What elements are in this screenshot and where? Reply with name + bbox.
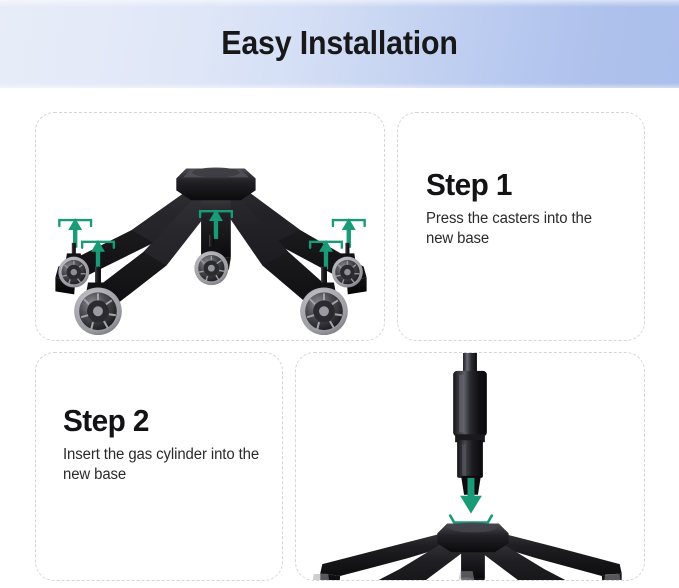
step-2-text-block: Step 2 Insert the gas cylinder into the …	[63, 405, 266, 484]
step-2-heading: Step 2	[63, 405, 258, 438]
card-step-2: Step 2 Insert the gas cylinder into the …	[35, 352, 283, 581]
step-2-body: Insert the gas cylinder into the new bas…	[63, 445, 260, 484]
header-top-sheen	[0, 0, 679, 7]
card-step-1: Step 1 Press the casters into the new ba…	[397, 112, 645, 341]
header-banner: Easy Installation	[0, 0, 679, 88]
base2-hub	[437, 523, 508, 553]
header-bottom-highlight	[0, 83, 679, 88]
base-hub	[176, 168, 255, 201]
page-root: Easy Installation	[0, 0, 679, 588]
step-1-heading: Step 1	[426, 169, 620, 202]
insert-arrow-down	[450, 478, 492, 523]
caster-wheel-1	[58, 243, 89, 288]
page-title: Easy Installation	[221, 24, 457, 65]
cylinder-illustration	[296, 353, 644, 580]
step-1-text-block: Step 1 Press the casters into the new ba…	[426, 169, 628, 248]
step-1-body: Press the casters into the new base	[426, 209, 622, 248]
gas-cylinder	[453, 353, 487, 495]
casters-illustration	[36, 113, 384, 340]
caster-wheel-5	[332, 243, 363, 288]
card-casters-illustration	[35, 112, 385, 341]
card-cylinder-illustration	[295, 352, 645, 581]
